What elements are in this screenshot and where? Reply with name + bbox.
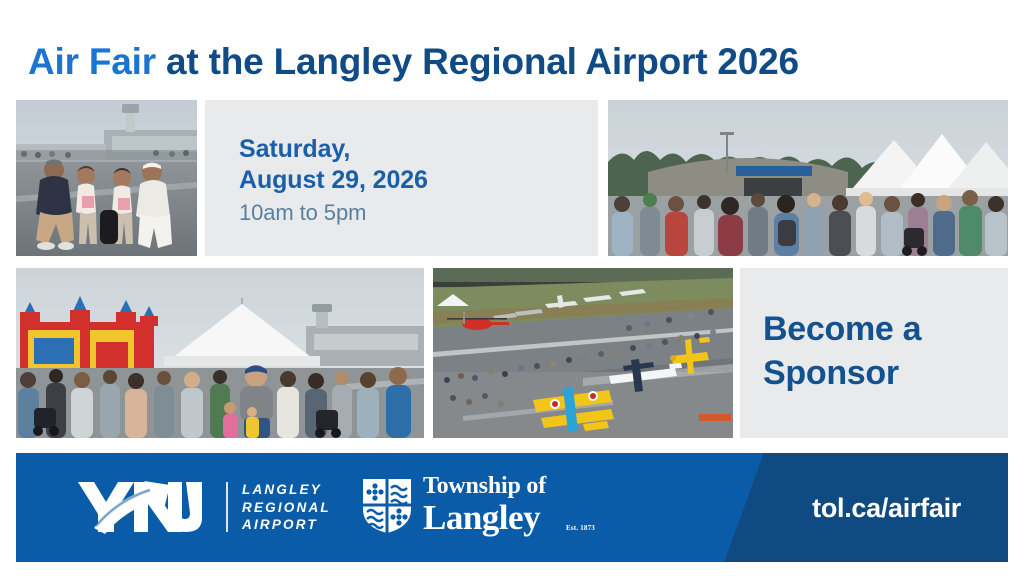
title-highlight: Air Fair — [28, 41, 156, 82]
township-line-1: Township of — [423, 473, 593, 499]
sponsor-line-1: Become a — [763, 307, 993, 351]
date-line-1: Saturday, — [239, 134, 428, 165]
logo-divider — [226, 482, 228, 532]
date-panel: Saturday, August 29, 2026 10am to 5pm — [205, 100, 598, 256]
become-a-sponsor-panel[interactable]: Become a Sponsor — [740, 268, 1008, 438]
photo-family-on-tarmac — [16, 100, 197, 256]
footer-bar: LANGLEY REGIONAL AIRPORT — [16, 453, 1008, 562]
footer-website-url[interactable]: tol.ca/airfair — [812, 493, 961, 524]
airport-name-line-2: REGIONAL — [242, 499, 362, 517]
township-wordmark: Township of Langley Est. 1873 — [423, 473, 593, 536]
airport-name-line-3: AIRPORT — [242, 516, 362, 534]
title-rest: at the Langley Regional Airport 2026 — [156, 41, 799, 82]
airport-name-line-1: LANGLEY — [242, 481, 362, 499]
photo-crowd-at-flight-museum — [608, 100, 1008, 256]
langley-regional-airport-logo[interactable]: LANGLEY REGIONAL AIRPORT — [76, 476, 326, 538]
date-line-2: August 29, 2026 — [239, 165, 428, 196]
airport-name-text: LANGLEY REGIONAL AIRPORT — [242, 481, 362, 534]
township-line-2: Langley Est. 1873 — [423, 499, 593, 536]
air-fair-promotional-poster: Air Fair at the Langley Regional Airport… — [0, 0, 1024, 576]
page-title: Air Fair at the Langley Regional Airport… — [28, 38, 1008, 86]
township-line-2-text: Langley — [423, 498, 540, 537]
sponsor-heading: Become a Sponsor — [763, 307, 993, 395]
township-shield-icon — [361, 477, 413, 535]
township-established-text: Est. 1873 — [566, 524, 595, 532]
event-time: 10am to 5pm — [239, 198, 428, 228]
photo-aerial-flight-line — [433, 268, 733, 438]
photo-bouncy-castle-crowd — [16, 268, 424, 438]
ynj-monogram-icon — [76, 476, 211, 538]
township-of-langley-logo[interactable]: Township of Langley Est. 1873 — [361, 471, 591, 543]
sponsor-line-2: Sponsor — [763, 351, 993, 395]
